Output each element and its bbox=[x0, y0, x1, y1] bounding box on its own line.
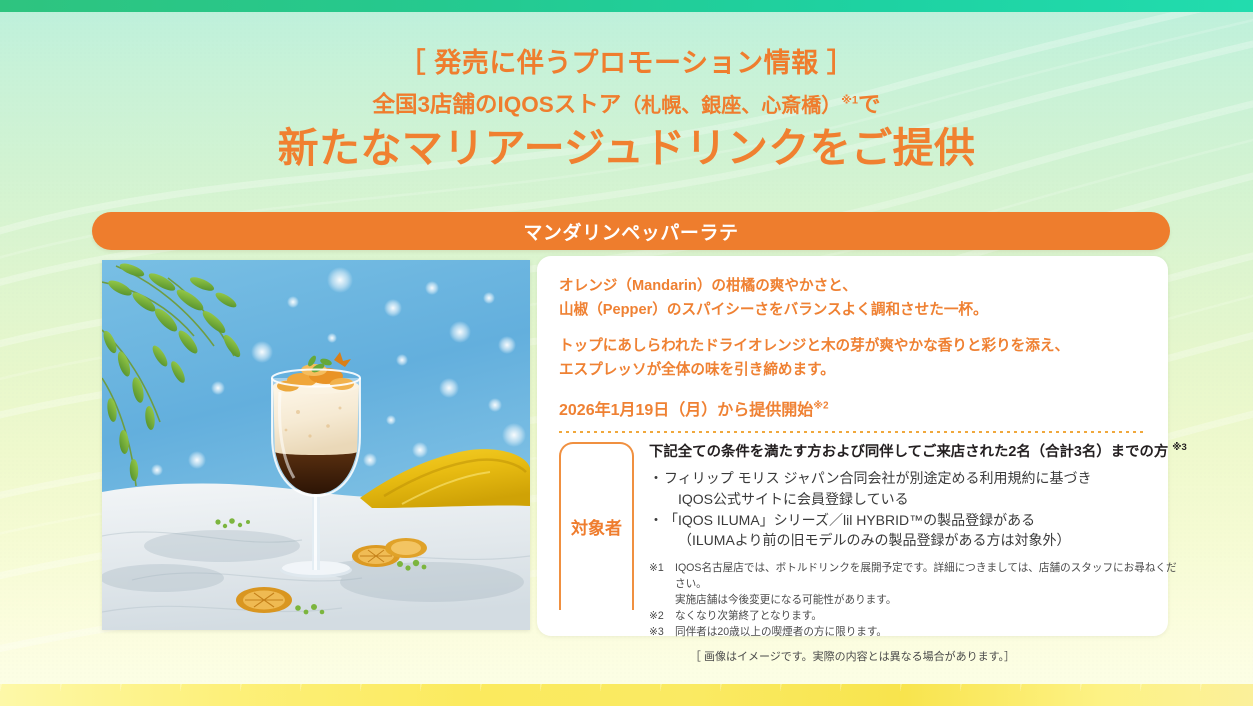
eligibility-tag-label: 対象者 bbox=[571, 514, 622, 539]
footnote-1-marker: ※1 bbox=[649, 561, 675, 593]
footnote-2-marker: ※2 bbox=[649, 609, 675, 625]
product-description-2: トップにあしらわれたドライオレンジと木の芽が爽やかな香りと彩りを添え、 エスプレ… bbox=[559, 335, 1146, 382]
subhead-store-list: （札幌、銀座、心斎橋） bbox=[621, 95, 841, 117]
header-subheadline: 全国3店舗のIQOSストア（札幌、銀座、心斎橋）※1で bbox=[0, 91, 1253, 118]
list-item: ・ 「IQOS ILUMA」シリーズ／lil HYBRID™の製品登録がある （… bbox=[649, 510, 1187, 551]
eligibility-tag: 対象者 bbox=[559, 442, 634, 610]
footnote-3-text: 同伴者は20歳以上の喫煙者の方に限ります。 bbox=[675, 625, 887, 641]
list-item: ・ フィリップ モリス ジャパン合同会社が別途定める利用規約に基づき IQOS公… bbox=[649, 468, 1187, 509]
footnote-2: ※2 なくなり次第終了となります。 bbox=[649, 609, 1187, 625]
slide-header: ［ 発売に伴うプロモーション情報 ］ 全国3店舗のIQOSストア（札幌、銀座、心… bbox=[0, 48, 1253, 172]
eligibility-title-text: 下記全ての条件を満たす方および同伴してご来店された2名（合計3名）までの方 bbox=[649, 443, 1168, 459]
eligibility-title-footnote-marker: ※3 bbox=[1172, 442, 1187, 453]
footnote-1-continuation: 実施店舗は今後変更になる可能性があります。 bbox=[649, 593, 1187, 609]
image-disclaimer: ［ 画像はイメージです。実際の内容とは異なる場合があります。］ bbox=[537, 648, 1168, 664]
list-item-main: 「IQOS ILUMA」シリーズ／lil HYBRID™の製品登録がある bbox=[664, 512, 1035, 528]
footnote-3: ※3 同伴者は20歳以上の喫煙者の方に限ります。 bbox=[649, 625, 1187, 641]
list-item-sub: （ILUMAより前の旧モデルのみの製品登録がある方は対象外） bbox=[664, 530, 1071, 551]
product-name-label: マンダリンペッパーラテ bbox=[523, 218, 738, 245]
footnote-2-text: なくなり次第終了となります。 bbox=[675, 609, 822, 625]
dotted-divider bbox=[559, 431, 1146, 433]
info-card: オレンジ（Mandarin）の柑橘の爽やかさと、 山椒（Pepper）のスパイシ… bbox=[537, 256, 1168, 636]
footnote-3-marker: ※3 bbox=[649, 625, 675, 641]
eligibility-condition-list: ・ フィリップ モリス ジャパン合同会社が別途定める利用規約に基づき IQOS公… bbox=[649, 468, 1187, 551]
footnotes: ※1 IQOS名古屋店では、ボトルドリンクを展開予定です。詳細につきましては、店… bbox=[649, 561, 1187, 640]
description-line-4: エスプレッソが全体の味を引き締めます。 bbox=[559, 359, 1146, 383]
product-photo bbox=[102, 260, 530, 630]
product-description: オレンジ（Mandarin）の柑橘の爽やかさと、 山椒（Pepper）のスパイシ… bbox=[559, 275, 1146, 322]
eligibility-section: 対象者 下記全ての条件を満たす方および同伴してご来店された2名（合計3名）までの… bbox=[559, 442, 1146, 641]
subhead-main-text: 全国3店舗のIQOSストア bbox=[372, 92, 621, 117]
availability-date: 2026年1月19日（月）から提供開始※2 bbox=[559, 396, 1146, 420]
description-line-1: オレンジ（Mandarin）の柑橘の爽やかさと、 bbox=[559, 275, 1146, 299]
footnote-1: ※1 IQOS名古屋店では、ボトルドリンクを展開予定です。詳細につきましては、店… bbox=[649, 561, 1187, 593]
list-item-text: 「IQOS ILUMA」シリーズ／lil HYBRID™の製品登録がある （IL… bbox=[664, 510, 1071, 551]
description-line-2: 山椒（Pepper）のスパイシーさをバランスよく調和させた一杯。 bbox=[559, 299, 1146, 323]
header-kicker: ［ 発売に伴うプロモーション情報 ］ bbox=[0, 48, 1253, 79]
product-name-banner: マンダリンペッパーラテ bbox=[92, 212, 1170, 250]
list-item-main: フィリップ モリス ジャパン合同会社が別途定める利用規約に基づき bbox=[664, 470, 1092, 486]
bottom-accent-bar bbox=[0, 684, 1253, 706]
eligibility-title: 下記全ての条件を満たす方および同伴してご来店された2名（合計3名）までの方※3 bbox=[649, 442, 1187, 462]
bullet-icon: ・ bbox=[649, 510, 664, 551]
eligibility-body: 下記全ての条件を満たす方および同伴してご来店された2名（合計3名）までの方※3 … bbox=[634, 442, 1187, 641]
description-line-3: トップにあしらわれたドライオレンジと木の芽が爽やかな香りと彩りを添え、 bbox=[559, 335, 1146, 359]
availability-date-text: 2026年1月19日（月）から提供開始 bbox=[559, 402, 813, 419]
page-title: 新たなマリアージュドリンクをご提供 bbox=[0, 124, 1253, 172]
list-item-text: フィリップ モリス ジャパン合同会社が別途定める利用規約に基づき IQOS公式サ… bbox=[664, 468, 1092, 509]
product-photo-illustration bbox=[102, 260, 530, 630]
footnote-1-text: IQOS名古屋店では、ボトルドリンクを展開予定です。詳細につきましては、店舗のス… bbox=[675, 561, 1187, 593]
list-item-sub: IQOS公式サイトに会員登録している bbox=[664, 489, 1092, 510]
top-accent-bar bbox=[0, 0, 1253, 12]
subhead-tail: で bbox=[858, 92, 881, 117]
bullet-icon: ・ bbox=[649, 468, 664, 509]
availability-date-footnote-marker: ※2 bbox=[813, 400, 828, 411]
subhead-footnote-marker: ※1 bbox=[841, 95, 858, 107]
